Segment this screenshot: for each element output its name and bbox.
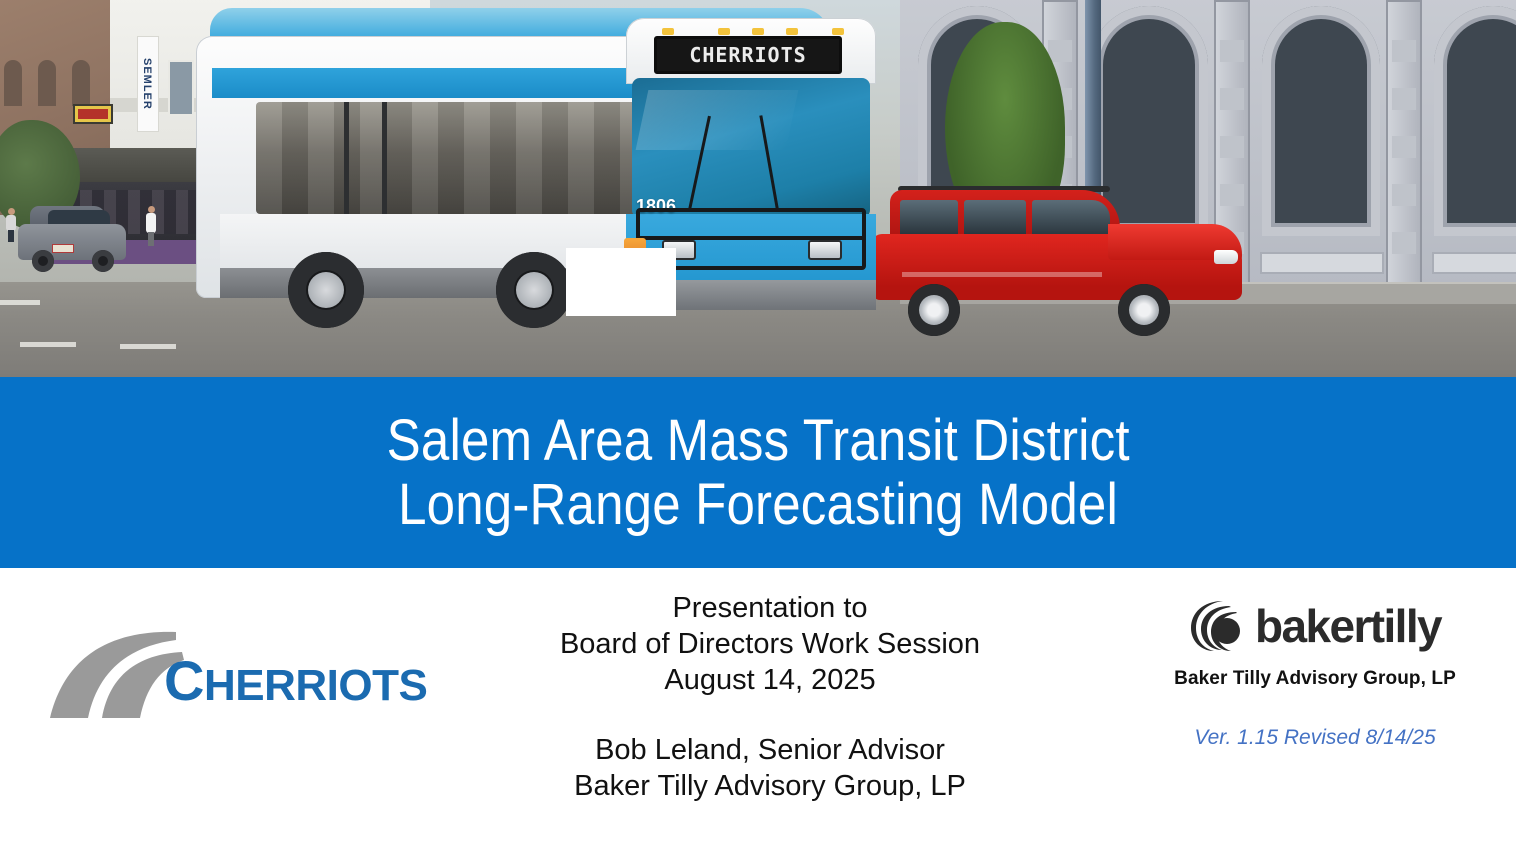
arched-window [1262,6,1380,236]
presentation-line-2: Board of Directors Work Session [440,626,1100,662]
window [168,60,194,116]
lane-marking [120,344,176,349]
cherriots-wordmark: CHERRIOTS [164,648,427,713]
cherriots-wordmark-cap: C [164,649,204,712]
bus-wheel [288,252,364,328]
cherriots-wordmark-rest: HERRIOTS [204,661,427,710]
pedestrian [146,206,156,246]
bakertilly-block: bakertilly Baker Tilly Advisory Group, L… [1140,596,1490,750]
hero-photo: SEMLER [0,0,1516,377]
version-label: Ver. 1.15 Revised 8/14/25 [1140,726,1490,750]
title-banner: Salem Area Mass Transit District Long-Ra… [0,377,1516,568]
grey-car [18,206,126,268]
redaction-box [566,248,676,316]
lane-marking [0,300,40,305]
window-sill [1432,252,1516,274]
red-suv [872,186,1242,336]
lane-marking [20,342,76,347]
destination-text: CHERRIOTS [689,43,806,67]
slide-title-line2: Long-Range Forecasting Model [398,473,1118,537]
bakertilly-mark-icon [1189,599,1245,653]
tattoo-sign [73,104,113,124]
bakertilly-entity: Baker Tilly Advisory Group, LP [1140,668,1490,690]
bus-wheel [496,252,572,328]
presentation-line-1: Presentation to [440,590,1100,626]
arched-window [1434,6,1516,236]
cherriots-bus: CHERRIOTS 1806 [196,6,876,326]
slide-title-line1: Salem Area Mass Transit District [386,409,1129,473]
slide-footer-area: CHERRIOTS Presentation to Board of Direc… [0,568,1516,851]
cherriots-logo: CHERRIOTS [44,626,389,722]
stone-pilaster [1386,0,1422,300]
title-slide: SEMLER [0,0,1516,851]
bakertilly-logo: bakertilly [1140,596,1490,656]
presentation-details: Presentation to Board of Directors Work … [440,590,1100,804]
bakertilly-wordmark: bakertilly [1255,603,1441,649]
semler-sign: SEMLER [137,36,159,132]
presenter-firm: Baker Tilly Advisory Group, LP [440,768,1100,804]
pedestrian [6,208,16,242]
window-sill [1260,252,1384,274]
presentation-line-3: August 14, 2025 [440,662,1100,698]
presenter-name: Bob Leland, Senior Advisor [440,732,1100,768]
bus-destination-sign: CHERRIOTS [654,36,842,74]
